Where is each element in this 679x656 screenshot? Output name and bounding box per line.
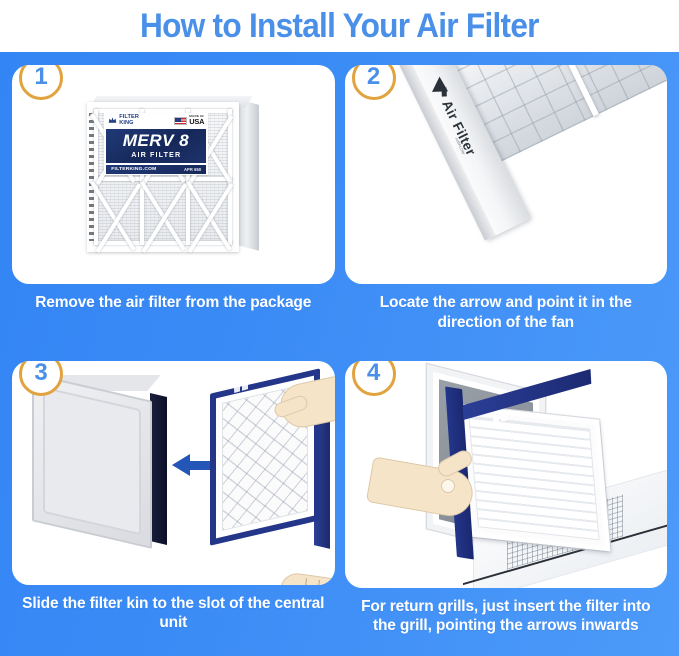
central-unit-side xyxy=(150,393,167,545)
step-4-illustration xyxy=(345,361,668,588)
grill-louvers xyxy=(468,415,599,539)
brand-line-2: KING xyxy=(119,121,139,127)
step-3-number: 3 xyxy=(34,361,47,385)
step-4-card: 4 xyxy=(345,361,668,588)
merv-subtitle: AIR FILTER xyxy=(131,151,181,158)
step-4-caption: For return grills, just insert the filte… xyxy=(345,597,668,637)
step-1: 1 xyxy=(12,65,335,355)
air-filter-product: FILTER KING MADE IN xyxy=(87,94,259,256)
filter-depth-face xyxy=(237,99,259,250)
return-grill-door xyxy=(457,404,610,551)
central-unit-slot xyxy=(43,386,141,535)
step-2-caption: Locate the arrow and point it in the dir… xyxy=(345,293,668,333)
filter-front-face: FILTER KING MADE IN xyxy=(87,102,239,252)
merv-label-footer: FILTERKING.COM APR 650 xyxy=(106,165,206,174)
infographic-root: How to Install Your Air Filter 1 xyxy=(0,0,679,656)
step-4: 4 xyxy=(345,361,668,651)
step-3-card: 3 xyxy=(12,361,335,585)
made-in-usa: MADE IN USA xyxy=(174,115,204,126)
step-1-caption: Remove the air filter from the package xyxy=(12,293,335,313)
step-3-caption: Slide the filter kin to the slot of the … xyxy=(12,594,335,634)
step-2: 2 xyxy=(345,65,668,355)
brand-name: FILTER KING xyxy=(119,115,139,126)
central-unit xyxy=(32,373,152,549)
step-4-number: 4 xyxy=(367,361,380,385)
steps-grid: 1 xyxy=(0,52,679,656)
apr-rating: APR 650 xyxy=(184,167,201,172)
merv-rating: MERV 8 xyxy=(123,133,189,150)
airflow-arrow-tail xyxy=(441,87,446,96)
usa-text: USA xyxy=(189,118,204,125)
website-text: FILTERKING.COM xyxy=(111,167,156,172)
step-2-number: 2 xyxy=(367,65,380,89)
merv-label-header: FILTER KING MADE IN xyxy=(104,113,208,129)
filter-king-logo: FILTER KING xyxy=(108,115,139,126)
filter-corner-body: Air Filter AIRFLOW xyxy=(371,65,668,277)
merv-rating-block: MERV 8 AIR FILTER xyxy=(106,129,206,163)
filter-corner-photo: Air Filter AIRFLOW xyxy=(345,65,668,284)
step-2-illustration: Air Filter AIRFLOW xyxy=(345,65,668,284)
step-1-card: 1 xyxy=(12,65,335,284)
header: How to Install Your Air Filter xyxy=(0,0,679,52)
step-3: 3 xyxy=(12,361,335,651)
steps-canvas: 1 xyxy=(0,52,679,656)
usa-flag-icon xyxy=(174,117,187,125)
merv-label: FILTER KING MADE IN xyxy=(104,113,208,175)
knuckle xyxy=(441,479,455,493)
page-title: How to Install Your Air Filter xyxy=(140,9,539,43)
step-3-illustration xyxy=(12,361,335,585)
step-1-illustration: FILTER KING MADE IN xyxy=(12,65,335,284)
step-2-card: 2 xyxy=(345,65,668,284)
crown-icon xyxy=(108,116,117,125)
step-1-number: 1 xyxy=(34,65,47,89)
